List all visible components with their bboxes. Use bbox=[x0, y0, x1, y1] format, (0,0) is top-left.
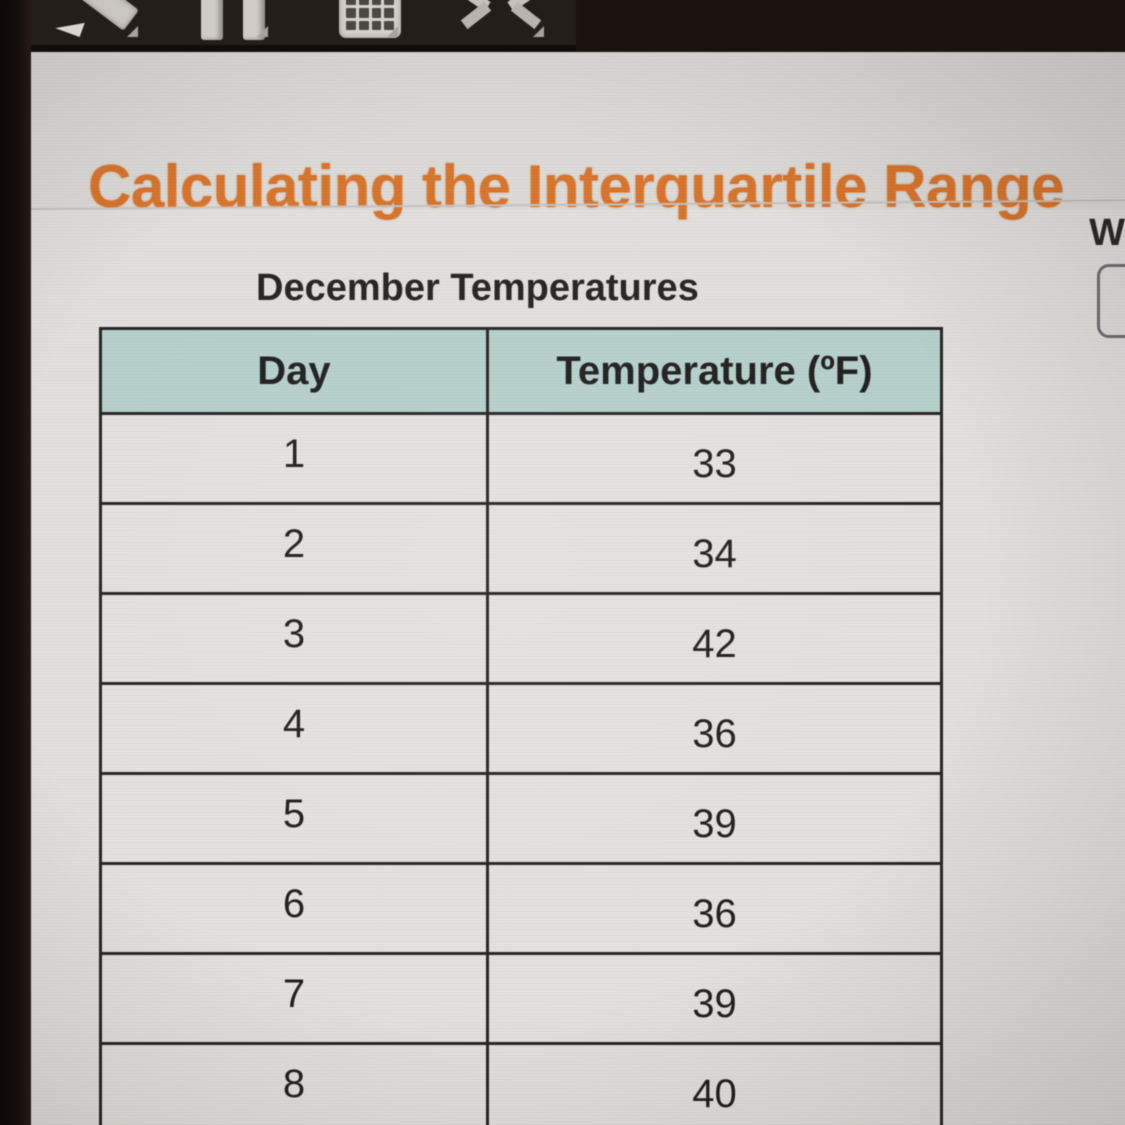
page-title: Calculating the Interquartile Range bbox=[88, 152, 1064, 221]
table-row: 2 34 bbox=[101, 504, 942, 594]
lesson-page: Calculating the Interquartile Range Dece… bbox=[31, 52, 1125, 1125]
cell-temperature: 40 bbox=[488, 1044, 942, 1125]
cell-day: 8 bbox=[101, 1044, 488, 1125]
drawing-toolbar bbox=[0, 0, 576, 52]
screen-bezel bbox=[0, 0, 31, 1125]
cell-temperature: 36 bbox=[488, 864, 942, 954]
table-row: 3 42 bbox=[101, 594, 942, 684]
fit-arrows-tool-button[interactable] bbox=[445, 0, 555, 44]
chevron-down-icon[interactable] bbox=[533, 26, 544, 37]
table-header-row: Day Temperature (ºF) bbox=[101, 329, 942, 414]
cell-day: 3 bbox=[101, 594, 488, 684]
table-row: 5 39 bbox=[101, 774, 942, 864]
table-row: 7 39 bbox=[101, 954, 942, 1044]
december-temperatures-table: Day Temperature (ºF) 1 33 2 34 3 bbox=[99, 327, 943, 1125]
table-row: 4 36 bbox=[101, 684, 942, 774]
chevron-down-icon[interactable] bbox=[127, 26, 138, 37]
highlighter-icon bbox=[185, 0, 283, 44]
pen-tool-button[interactable] bbox=[55, 0, 151, 44]
calculator-tool-button[interactable] bbox=[325, 0, 415, 44]
table-row: 6 36 bbox=[101, 864, 942, 954]
cell-day: 1 bbox=[101, 414, 488, 504]
table-caption: December Temperatures bbox=[256, 267, 699, 310]
column-header-temperature: Temperature (ºF) bbox=[488, 329, 942, 414]
cell-day: 4 bbox=[101, 684, 488, 774]
chevron-down-icon[interactable] bbox=[257, 26, 268, 37]
cell-day: 7 bbox=[101, 954, 488, 1044]
cell-day: 2 bbox=[101, 504, 488, 594]
answer-widget-label: W bbox=[1089, 212, 1125, 255]
table-row: 8 40 bbox=[101, 1044, 942, 1125]
cell-temperature: 39 bbox=[488, 774, 942, 864]
cell-temperature: 34 bbox=[488, 504, 942, 594]
cell-day: 5 bbox=[101, 774, 488, 864]
chevron-down-icon[interactable] bbox=[387, 26, 398, 37]
table-body: 1 33 2 34 3 42 4 36 bbox=[101, 414, 942, 1125]
cell-temperature: 36 bbox=[488, 684, 942, 774]
photographed-screen: Calculating the Interquartile Range Dece… bbox=[0, 0, 1125, 1125]
cell-temperature: 42 bbox=[488, 594, 942, 684]
cell-day: 6 bbox=[101, 864, 488, 954]
answer-input[interactable] bbox=[1097, 264, 1125, 338]
column-header-day: Day bbox=[101, 329, 488, 414]
cell-temperature: 39 bbox=[488, 954, 942, 1044]
cell-temperature: 33 bbox=[488, 414, 942, 504]
pen-icon bbox=[55, 0, 151, 44]
table-row: 1 33 bbox=[101, 414, 942, 504]
highlighter-tool-button[interactable] bbox=[185, 0, 283, 44]
